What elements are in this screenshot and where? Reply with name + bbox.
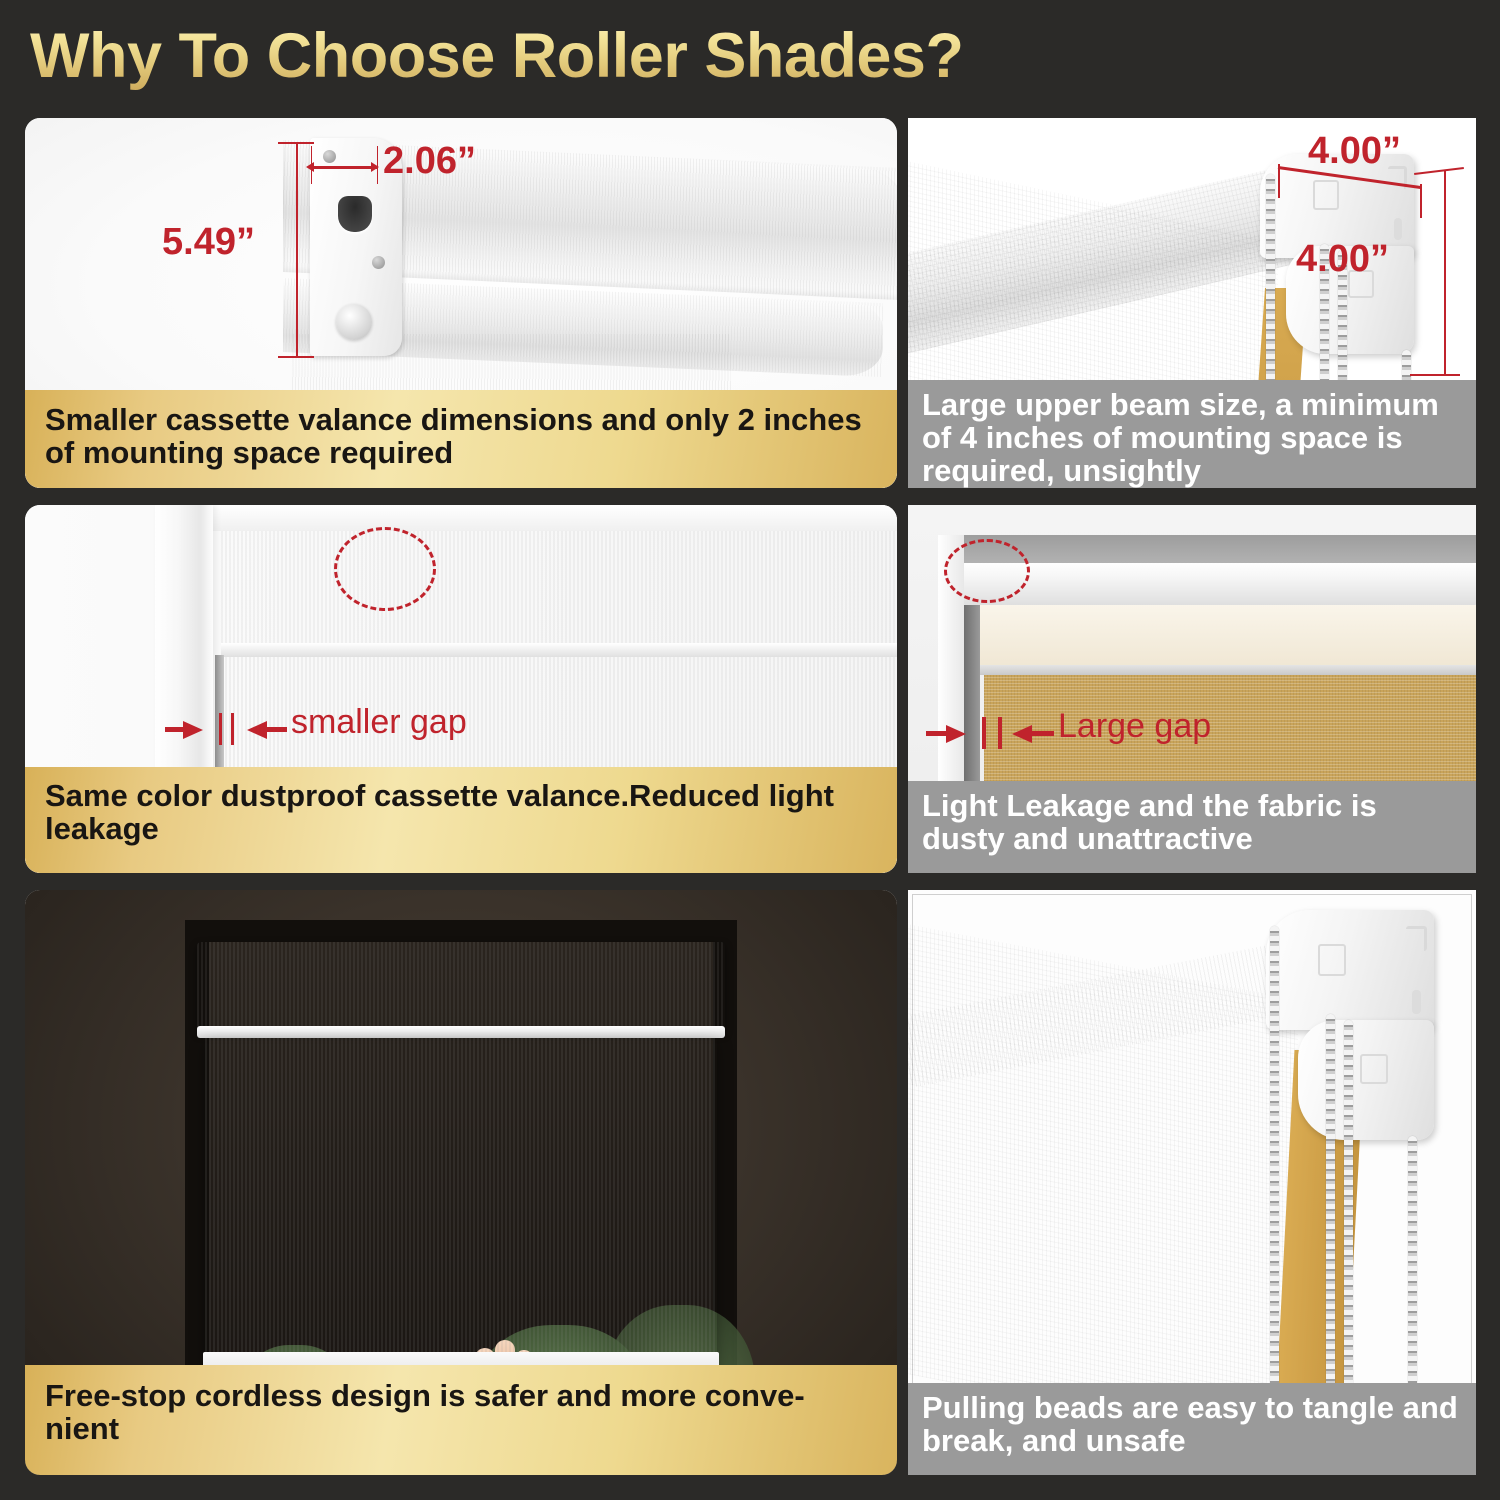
gap-tick <box>982 717 986 749</box>
arrow-shaft <box>165 727 187 732</box>
highlight-circle <box>334 527 436 611</box>
gap-label: smaller gap <box>291 703 467 742</box>
panel-pulling-beads: Pulling beads are easy to tangle and bre… <box>908 890 1476 1475</box>
panel-3-caption: Same color dustproof cassette valance.Re… <box>25 767 897 873</box>
valance-lip <box>221 643 897 657</box>
dimension-label-width: 4.00” <box>1308 130 1401 173</box>
screw-icon <box>323 150 336 163</box>
cassette-valance <box>221 531 897 643</box>
panel-dustproof-cassette: smaller gap Same color dustproof cassett… <box>25 505 897 873</box>
dimension-label-height: 5.49” <box>162 221 255 264</box>
panel-6-caption: Pulling beads are easy to tangle and bre… <box>908 1383 1476 1475</box>
end-cap-knob-icon <box>336 304 372 340</box>
panel-cordless-design: Free-stop cordless design is safer and m… <box>25 890 897 1475</box>
dim-line-height <box>1444 170 1446 376</box>
bracket-slot-icon <box>1394 218 1402 240</box>
bracket-mount-hole-icon <box>1406 926 1427 951</box>
gap-tick <box>231 713 234 745</box>
screw-icon <box>372 256 385 269</box>
dim-line-height <box>296 142 298 358</box>
page-title: Why To Choose Roller Shades? <box>30 14 1230 98</box>
gap-tick <box>998 717 1002 749</box>
dim-tick <box>1410 374 1460 376</box>
valance-bar <box>980 665 1476 675</box>
headrail-lip <box>197 1026 725 1038</box>
bead-chain <box>1270 926 1279 1456</box>
bracket-emblem-icon <box>1318 944 1346 976</box>
bracket-slot-icon <box>1412 990 1421 1014</box>
valance-cream-band <box>980 605 1476 667</box>
panel-2-caption: Large upper beam size, a minimum of 4 in… <box>908 380 1476 488</box>
arrow-shaft <box>1030 731 1054 736</box>
arrow-shaft <box>265 727 287 732</box>
end-cap-slot-icon <box>338 196 372 232</box>
panel-4-caption: Light Leakage and the fabric is dusty an… <box>908 781 1476 873</box>
arrow-shaft <box>926 731 950 736</box>
panel-large-upper-beam: 4.00” 4.00” Large upper beam size, a min… <box>908 118 1476 488</box>
dimension-label-width: 2.06” <box>383 140 476 183</box>
arrow-icon <box>306 162 314 172</box>
cassette-headrail <box>197 942 725 1032</box>
shade-fabric-beige <box>908 922 1298 1450</box>
gap-label: Large gap <box>1058 707 1211 746</box>
dimension-label-height: 4.00” <box>1296 238 1389 281</box>
roller-tube <box>964 563 1476 609</box>
dim-line-width <box>311 166 377 169</box>
shade-fabric <box>205 1038 717 1368</box>
arrow-icon <box>247 721 267 739</box>
highlight-circle <box>944 539 1030 603</box>
arrow-icon <box>371 162 379 172</box>
dim-tick <box>278 142 314 144</box>
panel-1-caption: Smaller cassette valance dimensions and … <box>25 390 897 488</box>
gap-tick <box>219 713 222 745</box>
infographic-page: Why To Choose Roller Shades? 2.06” <box>0 0 1500 1500</box>
bracket-emblem-icon <box>1313 180 1339 210</box>
dim-tick <box>278 356 314 358</box>
panel-light-leakage: Large gap Light Leakage and the fabric i… <box>908 505 1476 873</box>
arrow-icon <box>1012 725 1032 743</box>
panel-5-caption: Free-stop cordless design is safer and m… <box>25 1365 897 1475</box>
panel-smaller-cassette: 2.06” 5.49” Smaller cassette valance dim… <box>25 118 897 488</box>
bracket-emblem-icon <box>1360 1054 1388 1084</box>
